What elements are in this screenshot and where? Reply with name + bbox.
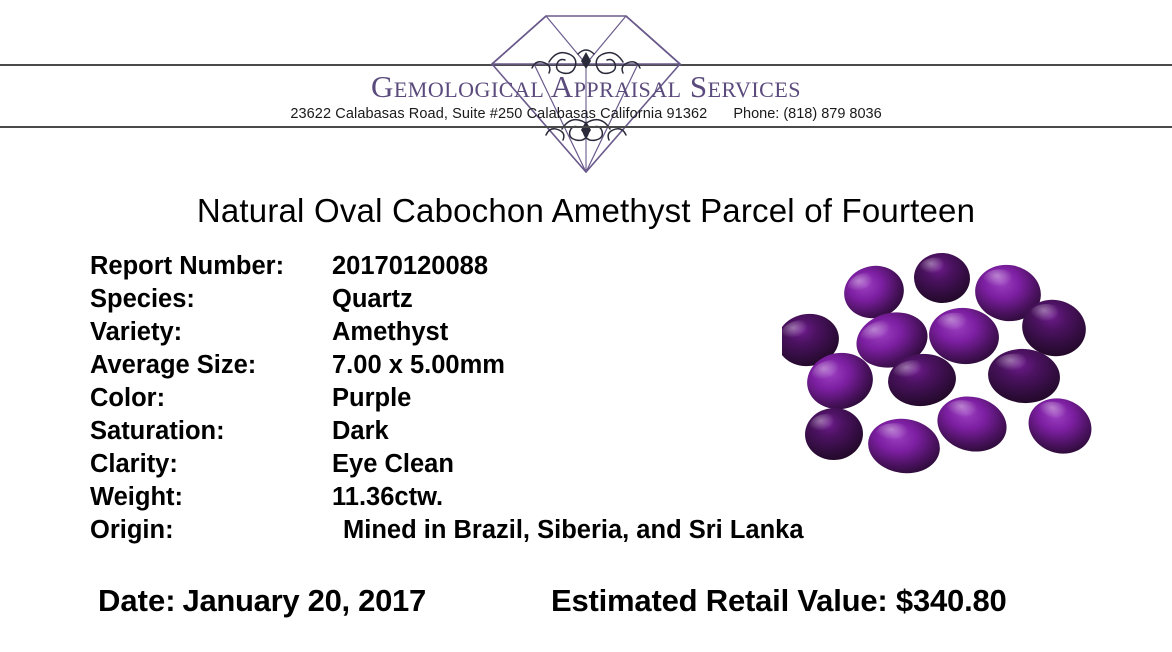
amethyst-cabochon-parcel-photo [782, 248, 1102, 480]
brand-address: 23622 Calabasas Road, Suite #250 Calabas… [290, 106, 707, 122]
spec-value: 11.36ctw. [332, 483, 880, 512]
date-label: Date: [98, 583, 176, 618]
spec-value: Mined in Brazil, Siberia, and Sri Lanka [332, 516, 880, 545]
spec-row: Report Number:20170120088 [90, 252, 880, 285]
gemstone-oval [932, 389, 1013, 458]
spec-label: Clarity: [90, 450, 332, 479]
spec-row: Saturation:Dark [90, 417, 880, 450]
brand-name: Gemological Appraisal Services [0, 70, 1172, 104]
spec-row: Clarity:Eye Clean [90, 450, 880, 483]
brand-contact-line: 23622 Calabasas Road, Suite #250 Calabas… [0, 106, 1172, 122]
letterhead: Gemological Appraisal Services 23622 Cal… [0, 0, 1172, 190]
spec-label: Variety: [90, 318, 332, 347]
gemstone-oval [912, 251, 971, 305]
spec-label: Average Size: [90, 351, 332, 380]
spec-row: Origin:Mined in Brazil, Siberia, and Sri… [90, 516, 880, 549]
certificate-footer: Date:January 20, 2017 Estimated Retail V… [0, 583, 1172, 625]
spec-label: Weight: [90, 483, 332, 512]
gemstone-oval [803, 406, 864, 462]
page-title: Natural Oval Cabochon Amethyst Parcel of… [0, 192, 1172, 230]
spec-row: Average Size:7.00 x 5.00mm [90, 351, 880, 384]
estimated-retail-value: Estimated Retail Value: $340.80 [551, 583, 1007, 619]
spec-label: Color: [90, 384, 332, 413]
gem-spec-list: Report Number:20170120088Species:QuartzV… [90, 252, 880, 549]
header-rule-bottom [0, 126, 1172, 128]
spec-row: Species:Quartz [90, 285, 880, 318]
brand-phone: Phone: (818) 879 8036 [733, 106, 881, 122]
spec-row: Weight:11.36ctw. [90, 483, 880, 516]
spec-label: Origin: [90, 516, 332, 545]
gemstone-oval [865, 414, 944, 477]
spec-row: Variety:Amethyst [90, 318, 880, 351]
date-value: January 20, 2017 [183, 583, 426, 618]
spec-row: Color:Purple [90, 384, 880, 417]
spec-label: Report Number: [90, 252, 332, 281]
date-line: Date:January 20, 2017 [98, 583, 426, 619]
spec-label: Species: [90, 285, 332, 314]
spec-label: Saturation: [90, 417, 332, 446]
